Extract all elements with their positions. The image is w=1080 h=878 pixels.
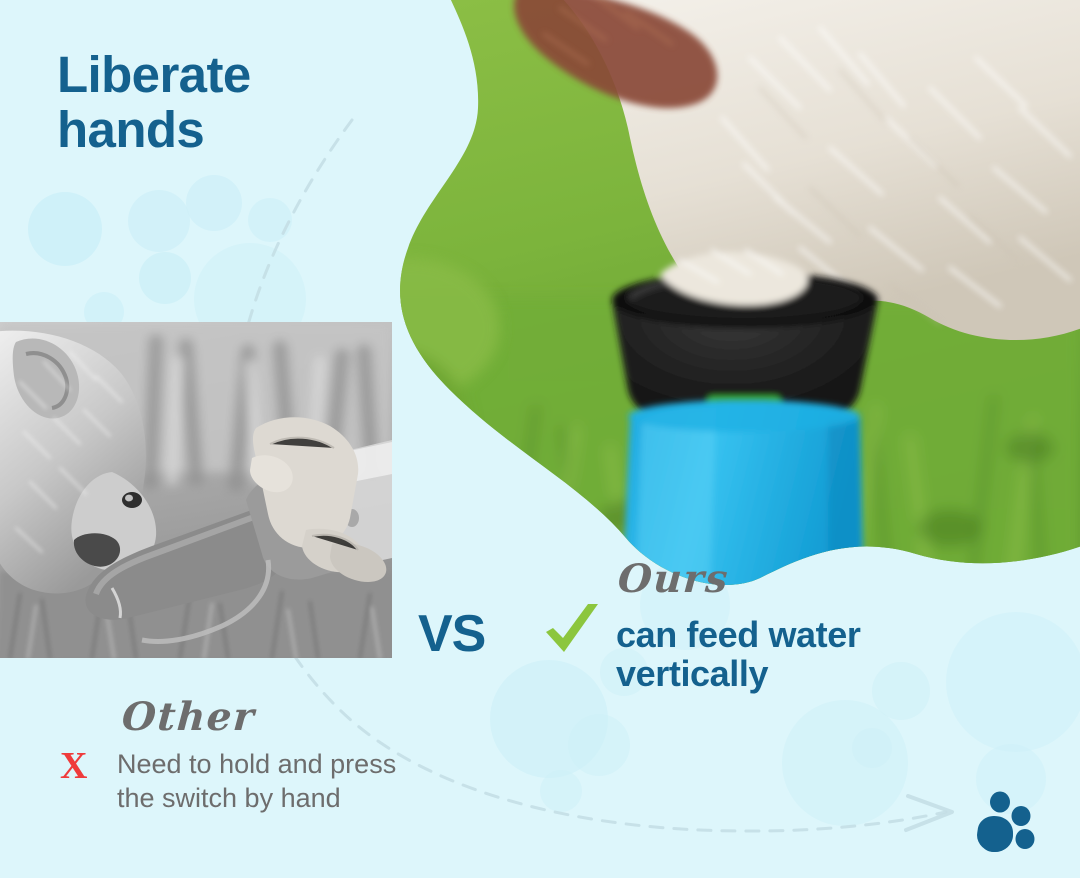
bg-bubble xyxy=(540,770,582,812)
paw-print-icon xyxy=(966,790,1038,854)
secondary-photo-bw xyxy=(0,322,392,658)
green-check-icon xyxy=(540,602,604,664)
headline-line-1: Liberate xyxy=(57,48,357,103)
bg-bubble xyxy=(28,192,102,266)
ours-benefit-line-1: can feed water xyxy=(616,616,986,655)
bg-bubble xyxy=(128,190,190,252)
headline-line-2: hands xyxy=(57,103,357,158)
other-tag: Other xyxy=(120,694,256,740)
infographic-canvas: Liberate hands VS Ours can feed water ve… xyxy=(0,0,1080,878)
bg-bubble xyxy=(782,700,908,826)
ours-tag: Ours xyxy=(616,556,730,602)
other-drawback: Need to hold and press the switch by han… xyxy=(117,748,517,816)
main-product-photo xyxy=(330,0,1080,598)
ours-benefit: can feed water vertically xyxy=(616,616,986,694)
bg-bubble xyxy=(248,198,292,242)
red-x-icon: X xyxy=(60,744,87,788)
other-drawback-line-1: Need to hold and press xyxy=(117,748,517,782)
bg-bubble xyxy=(852,728,892,768)
page-title: Liberate hands xyxy=(57,48,357,157)
vs-label: VS xyxy=(418,604,485,664)
ours-benefit-line-2: vertically xyxy=(616,655,986,694)
other-drawback-line-2: the switch by hand xyxy=(117,782,517,816)
bg-bubble xyxy=(139,252,191,304)
bg-bubble xyxy=(568,714,630,776)
bg-bubble xyxy=(186,175,242,231)
